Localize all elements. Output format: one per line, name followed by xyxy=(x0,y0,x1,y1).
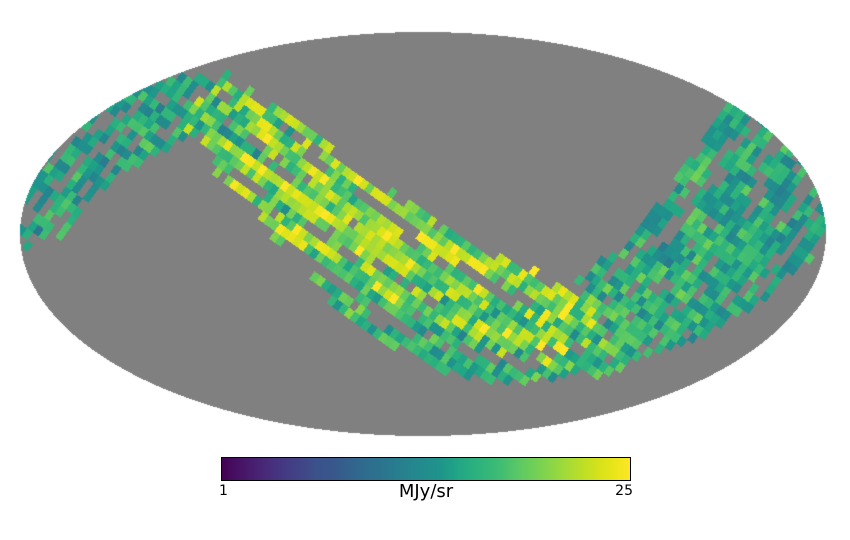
colorbar-gradient xyxy=(221,457,631,481)
colorbar-unit-label: MJy/sr xyxy=(221,481,631,502)
figure-panel: 0231 GHz 1 25 MJy/sr xyxy=(0,0,850,540)
colorbar xyxy=(221,457,631,481)
sky-map xyxy=(0,0,850,450)
